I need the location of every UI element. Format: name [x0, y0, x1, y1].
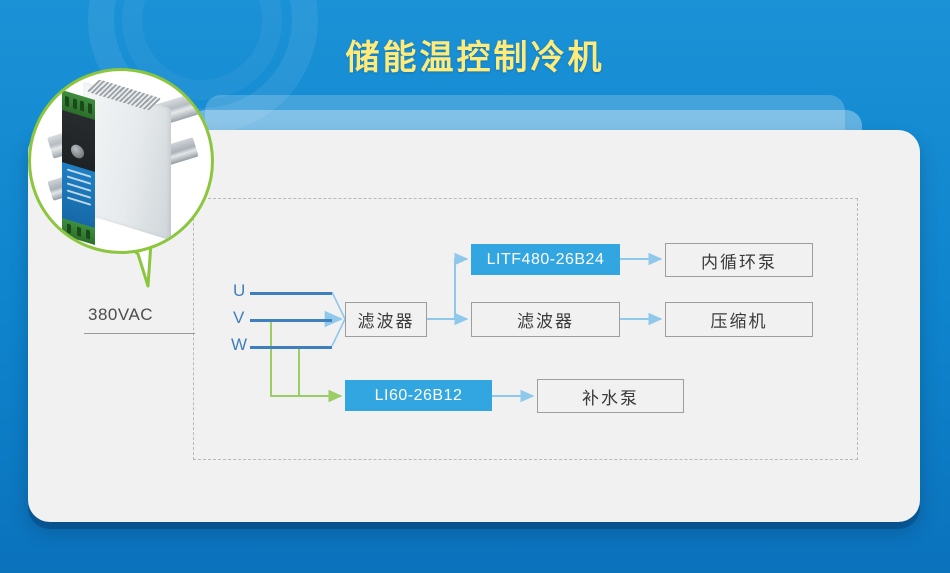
phase-label-v: V [233, 308, 244, 328]
phase-line-u [250, 292, 332, 295]
block-filter-1: 滤波器 [345, 302, 427, 337]
input-voltage-underline [84, 333, 195, 334]
block-compressor: 压缩机 [665, 302, 813, 337]
input-voltage-label: 380VAC [88, 305, 153, 325]
product-image-bubble [28, 68, 214, 254]
block-filter-2: 滤波器 [471, 302, 620, 337]
psu-body-icon [83, 82, 171, 241]
block-water-replenishment-pump: 补水泵 [537, 379, 684, 413]
phase-label-w: W [231, 335, 247, 355]
block-litf480: LITF480-26B24 [471, 244, 620, 275]
phase-line-w [250, 346, 332, 349]
block-internal-circulation-pump: 内循环泵 [665, 243, 813, 277]
block-li60: LI60-26B12 [345, 380, 492, 411]
phase-label-u: U [233, 281, 245, 301]
screenshot-root: 储能温控制冷机 [0, 0, 950, 573]
phase-line-v [250, 319, 332, 322]
product-photo [31, 71, 214, 254]
